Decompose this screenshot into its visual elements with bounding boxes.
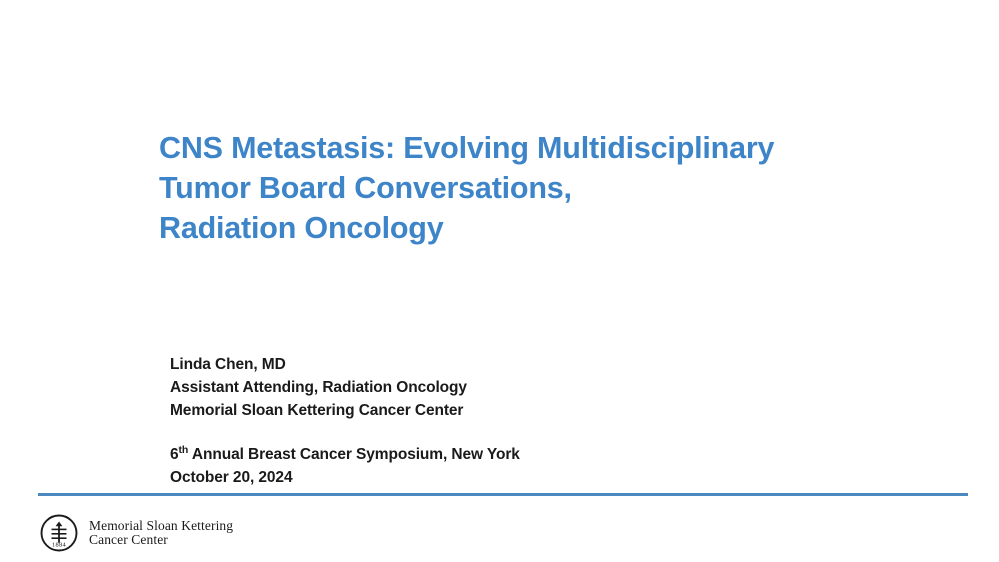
presenter-role: Assistant Attending, Radiation Oncology [170,376,810,399]
page-title: CNS Metastasis: Evolving Multidisciplina… [159,128,919,248]
event-ordinal-suffix: th [179,444,189,456]
presenter-info: Linda Chen, MD Assistant Attending, Radi… [170,353,810,423]
msk-wordmark-line-2: Cancer Center [89,533,233,548]
msk-wordmark-line-1: Memorial Sloan Kettering [89,519,233,534]
title-line-1: CNS Metastasis: Evolving Multidisciplina… [159,128,919,168]
msk-wordmark: Memorial Sloan Kettering Cancer Center [89,519,233,548]
event-name-rest: Annual Breast Cancer Symposium, New York [188,446,520,463]
msk-crest-year: 1884 [52,542,66,549]
title-slide: CNS Metastasis: Evolving Multidisciplina… [0,0,999,562]
event-info: 6th Annual Breast Cancer Symposium, New … [170,443,810,489]
presenter-institution: Memorial Sloan Kettering Cancer Center [170,399,810,422]
title-line-2: Tumor Board Conversations, [159,168,919,208]
event-ordinal-number: 6 [170,446,179,463]
presenter-name: Linda Chen, MD [170,353,810,376]
title-line-3: Radiation Oncology [159,208,919,248]
msk-logo: 1884 Memorial Sloan Kettering Cancer Cen… [38,512,233,554]
event-date: October 20, 2024 [170,466,810,489]
footer-divider [38,493,968,496]
msk-crest-icon: 1884 [38,512,80,554]
event-name: 6th Annual Breast Cancer Symposium, New … [170,443,810,466]
